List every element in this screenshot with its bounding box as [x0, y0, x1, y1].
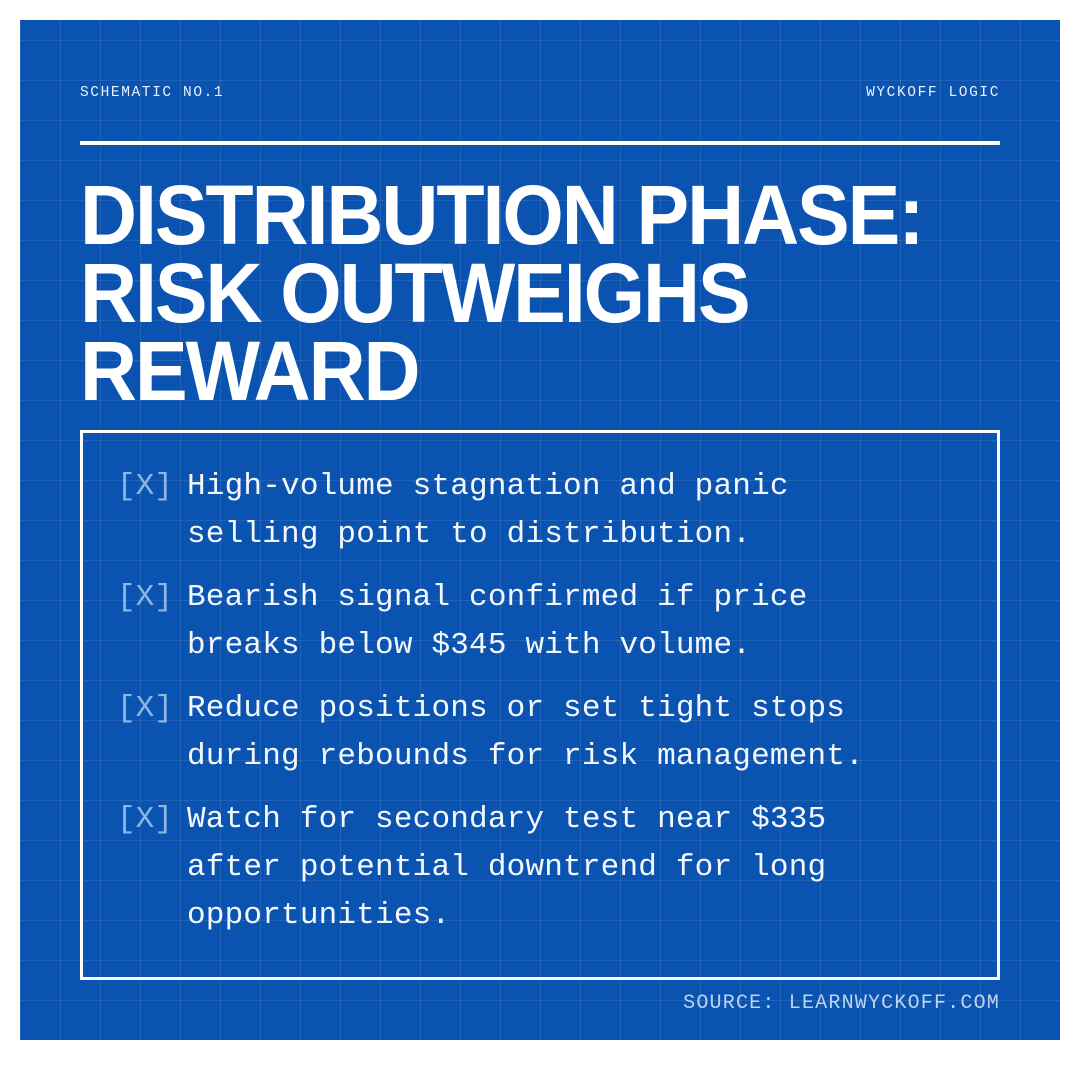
checkbox-x-icon: [X]	[117, 574, 187, 622]
list-item-line: after potential downtrend for long	[187, 844, 975, 892]
list-item: [X] High-volume stagnation and panic sel…	[117, 463, 975, 559]
checkbox-x-icon: [X]	[117, 463, 187, 511]
blueprint-card: SCHEMATIC NO.1 WYCKOFF LOGIC DISTRIBUTIO…	[20, 20, 1060, 1040]
page-title-line-1: DISTRIBUTION PHASE:	[80, 176, 964, 254]
list-item: [X] Bearish signal confirmed if price br…	[117, 574, 975, 670]
list-item-line: during rebounds for risk management.	[187, 733, 975, 781]
list-item-line: opportunities.	[187, 892, 975, 940]
list-item-line: Bearish signal confirmed if price	[187, 574, 975, 622]
list-item-text: Reduce positions or set tight stops duri…	[187, 685, 975, 781]
list-item-line: Watch for secondary test near $335	[187, 796, 975, 844]
list-item-line: Reduce positions or set tight stops	[187, 685, 975, 733]
header-kicker-right: WYCKOFF LOGIC	[866, 85, 1000, 101]
page-title: DISTRIBUTION PHASE: RISK OUTWEIGHS REWAR…	[80, 176, 964, 410]
checklist: [X] High-volume stagnation and panic sel…	[117, 463, 975, 940]
list-item-line: breaks below $345 with volume.	[187, 622, 975, 670]
checkbox-x-icon: [X]	[117, 796, 187, 844]
header-divider	[80, 141, 1000, 145]
poster-root: SCHEMATIC NO.1 WYCKOFF LOGIC DISTRIBUTIO…	[0, 0, 1080, 1080]
header-row: SCHEMATIC NO.1 WYCKOFF LOGIC	[80, 85, 1000, 101]
list-item-text: Watch for secondary test near $335 after…	[187, 796, 975, 940]
header-kicker-left: SCHEMATIC NO.1	[80, 85, 224, 101]
list-item-text: High-volume stagnation and panic selling…	[187, 463, 975, 559]
source-footer: SOURCE: LEARNWYCKOFF.COM	[80, 992, 1000, 1015]
list-item: [X] Reduce positions or set tight stops …	[117, 685, 975, 781]
page-title-line-3: REWARD	[80, 332, 964, 410]
list-item-text: Bearish signal confirmed if price breaks…	[187, 574, 975, 670]
page-title-line-2: RISK OUTWEIGHS	[80, 254, 964, 332]
list-item: [X] Watch for secondary test near $335 a…	[117, 796, 975, 940]
checkbox-x-icon: [X]	[117, 685, 187, 733]
checklist-box: [X] High-volume stagnation and panic sel…	[80, 430, 1000, 980]
list-item-line: High-volume stagnation and panic	[187, 463, 975, 511]
list-item-line: selling point to distribution.	[187, 511, 975, 559]
